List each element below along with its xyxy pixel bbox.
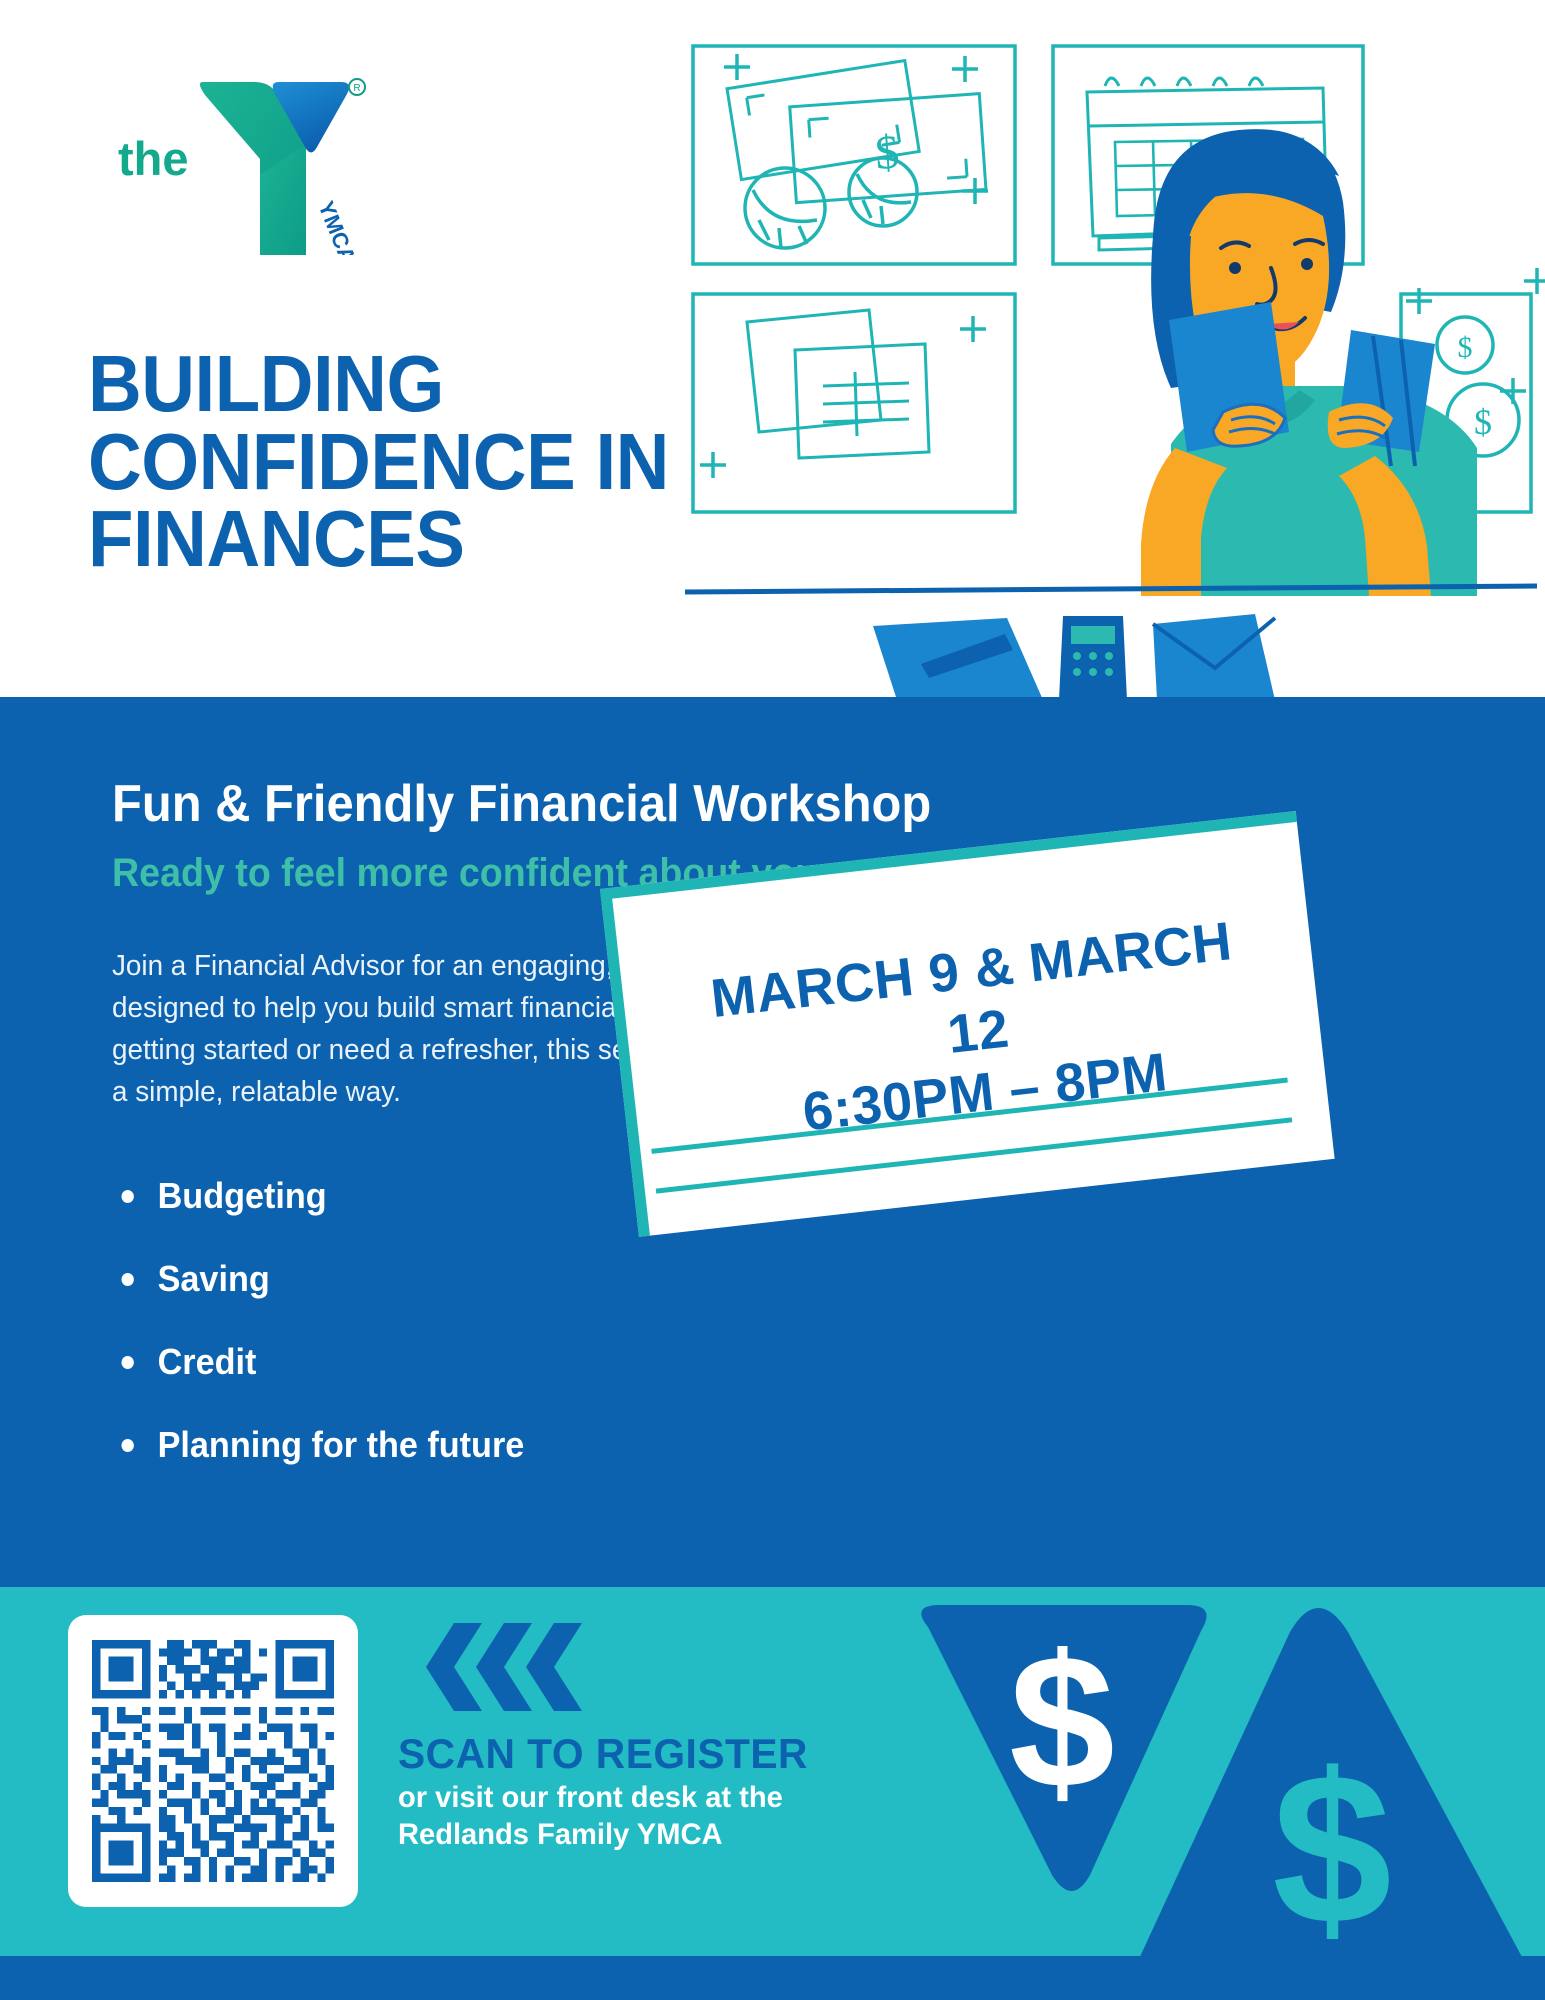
dollar-triangles-graphic: $ $ xyxy=(890,1587,1545,2000)
svg-text:$: $ xyxy=(1009,1616,1115,1828)
list-item: Budgeting xyxy=(112,1175,701,1217)
flyer-poster: R the YMCA BUILDING CONFIDENCE IN FINANC… xyxy=(0,0,1545,2000)
title-line-1: BUILDING xyxy=(88,345,683,423)
dollar-sign-white-icon: $ xyxy=(1009,1616,1115,1828)
dollar-sign-teal-icon: $ xyxy=(1272,1728,1392,1969)
documents-panel-icon xyxy=(693,294,1015,512)
svg-text:$: $ xyxy=(1272,1728,1392,1969)
ymca-logo: R the YMCA xyxy=(110,55,370,255)
footer-base-bar xyxy=(0,1956,1545,2000)
logo-the-text: the xyxy=(118,132,189,185)
scan-to-register-label: SCAN TO REGISTER xyxy=(398,1730,808,1778)
list-item: Planning for the future xyxy=(112,1424,701,1466)
workshop-heading: Fun & Friendly Financial Workshop xyxy=(112,777,931,832)
desk-illustration xyxy=(685,586,1537,697)
svg-text:R: R xyxy=(353,83,360,94)
chevrons-left-icon xyxy=(410,1617,590,1717)
logo-ymca-text: YMCA xyxy=(313,198,360,255)
person-illustration xyxy=(1141,129,1477,596)
page-title: BUILDING CONFIDENCE IN FINANCES xyxy=(88,345,683,578)
svg-text:$: $ xyxy=(873,125,901,180)
list-item: Saving xyxy=(112,1258,701,1300)
date-time-card: MARCH 9 & MARCH 12 6:30PM – 8PM xyxy=(600,811,1336,1247)
qr-code-card[interactable] xyxy=(68,1615,358,1907)
title-line-3: FINANCES xyxy=(88,500,683,578)
qr-code-icon xyxy=(92,1639,334,1883)
front-desk-info: or visit our front desk at the Redlands … xyxy=(398,1780,902,1853)
svg-text:$: $ xyxy=(1458,331,1473,364)
footer-section: SCAN TO REGISTER or visit our front desk… xyxy=(0,1587,1545,2000)
front-desk-line-2: Redlands Family YMCA xyxy=(398,1817,902,1854)
registered-mark-icon: R xyxy=(349,79,365,95)
main-content-section: Fun & Friendly Financial Workshop Ready … xyxy=(0,697,1545,1587)
title-line-2: CONFIDENCE IN xyxy=(88,423,683,501)
front-desk-line-1: or visit our front desk at the xyxy=(398,1780,902,1817)
money-panel-icon: $ xyxy=(693,46,1015,264)
hero-illustration: $ xyxy=(675,0,1545,697)
svg-text:$: $ xyxy=(1474,402,1492,442)
list-item: Credit xyxy=(112,1341,701,1383)
header-section: R the YMCA BUILDING CONFIDENCE IN FINANC… xyxy=(0,0,1545,697)
